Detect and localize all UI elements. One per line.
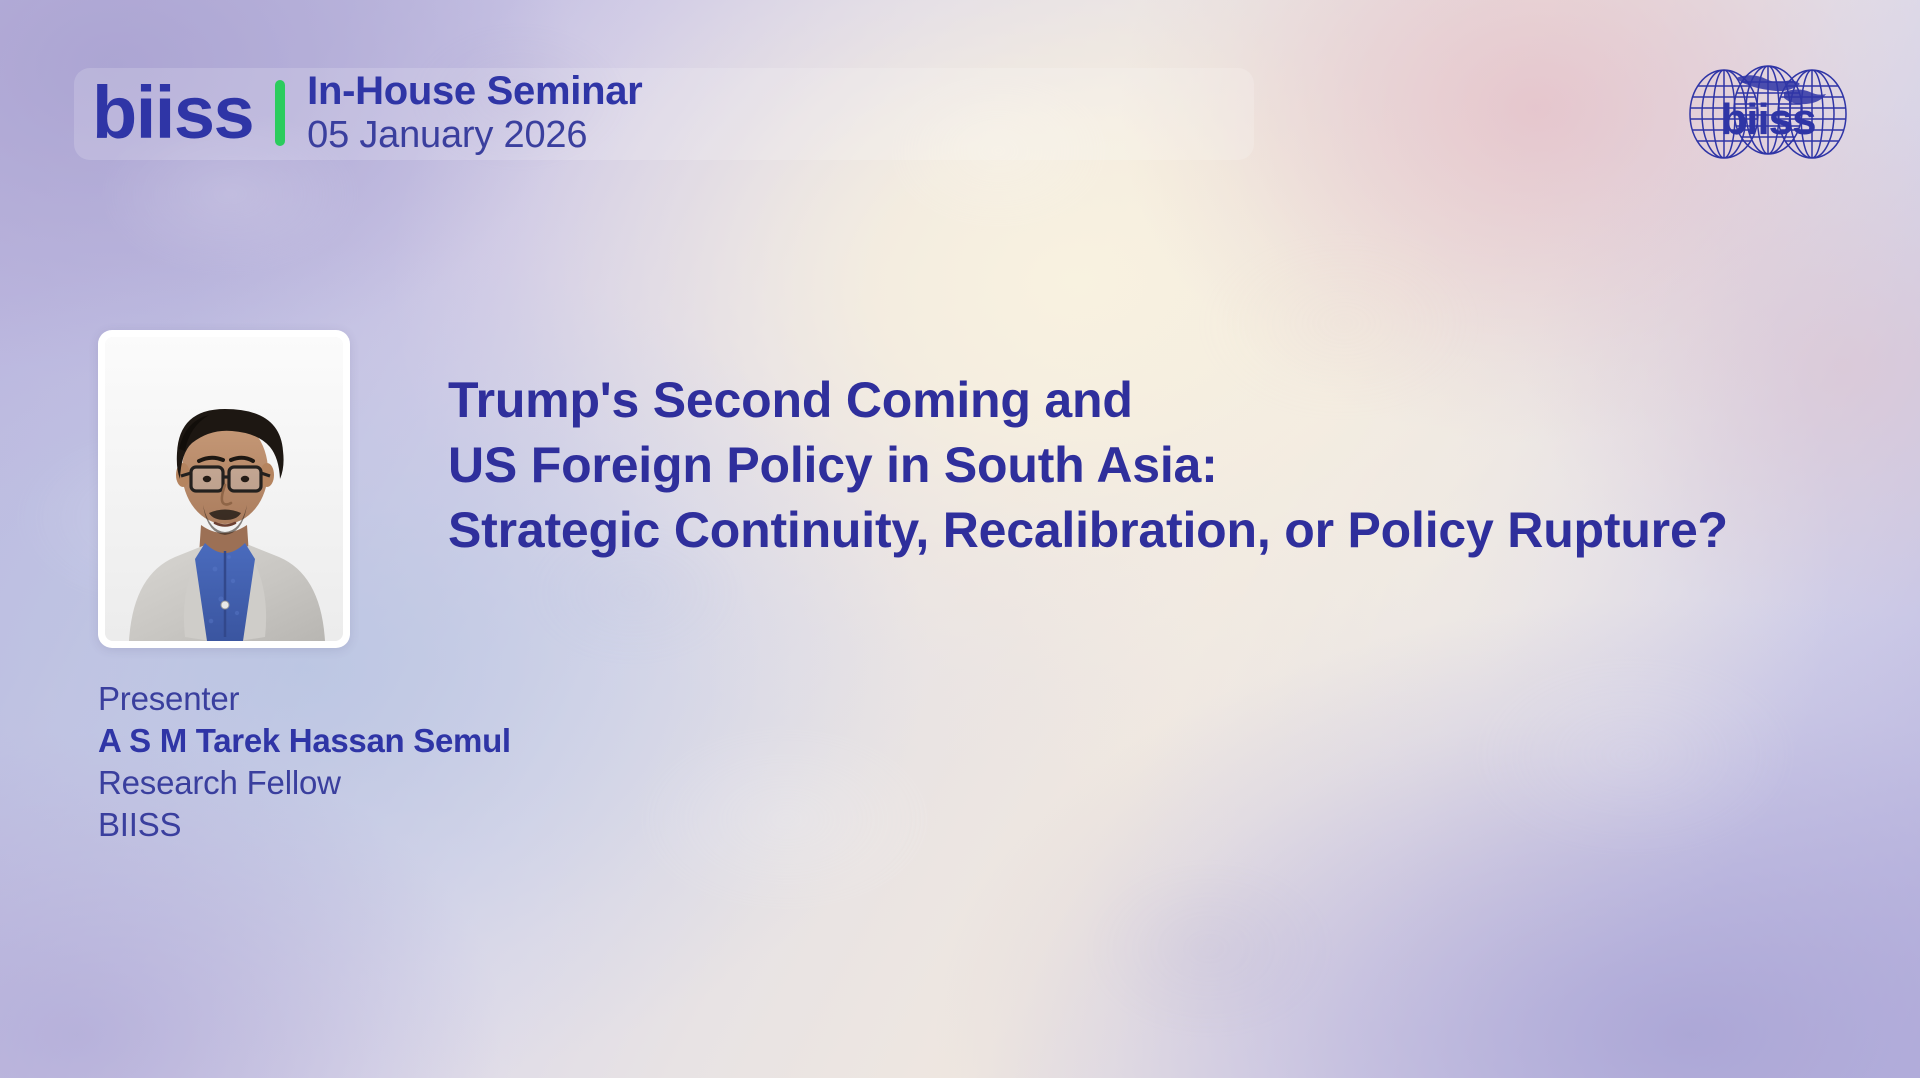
presenter-organization: BIISS bbox=[98, 804, 511, 846]
presenter-role: Research Fellow bbox=[98, 762, 511, 804]
presenter-name: A S M Tarek Hassan Semul bbox=[98, 720, 511, 762]
seminar-type-label: In-House Seminar bbox=[307, 69, 642, 114]
title-line-2: US Foreign Policy in South Asia: bbox=[448, 433, 1868, 498]
presenter-photo-frame bbox=[98, 330, 350, 648]
seminar-date: 05 January 2026 bbox=[307, 114, 642, 157]
title-line-3: Strategic Continuity, Recalibration, or … bbox=[448, 498, 1868, 563]
svg-text:biiss: biiss bbox=[1720, 95, 1815, 144]
biiss-wordmark: biiss bbox=[74, 76, 275, 150]
presenter-block: Presenter A S M Tarek Hassan Semul Resea… bbox=[98, 678, 511, 846]
seminar-title: Trump's Second Coming and US Foreign Pol… bbox=[448, 368, 1868, 563]
seminar-announcement-slide: biiss In-House Seminar 05 January 2026 bbox=[0, 0, 1920, 1078]
header-text-group: In-House Seminar 05 January 2026 bbox=[307, 69, 642, 156]
title-line-1: Trump's Second Coming and bbox=[448, 368, 1868, 433]
biiss-globe-logo-icon: biiss bbox=[1680, 52, 1856, 170]
presenter-label: Presenter bbox=[98, 678, 511, 720]
header-brand-row: biiss In-House Seminar 05 January 2026 bbox=[74, 52, 642, 174]
green-divider-bar bbox=[275, 80, 285, 146]
presenter-photo bbox=[105, 337, 343, 641]
